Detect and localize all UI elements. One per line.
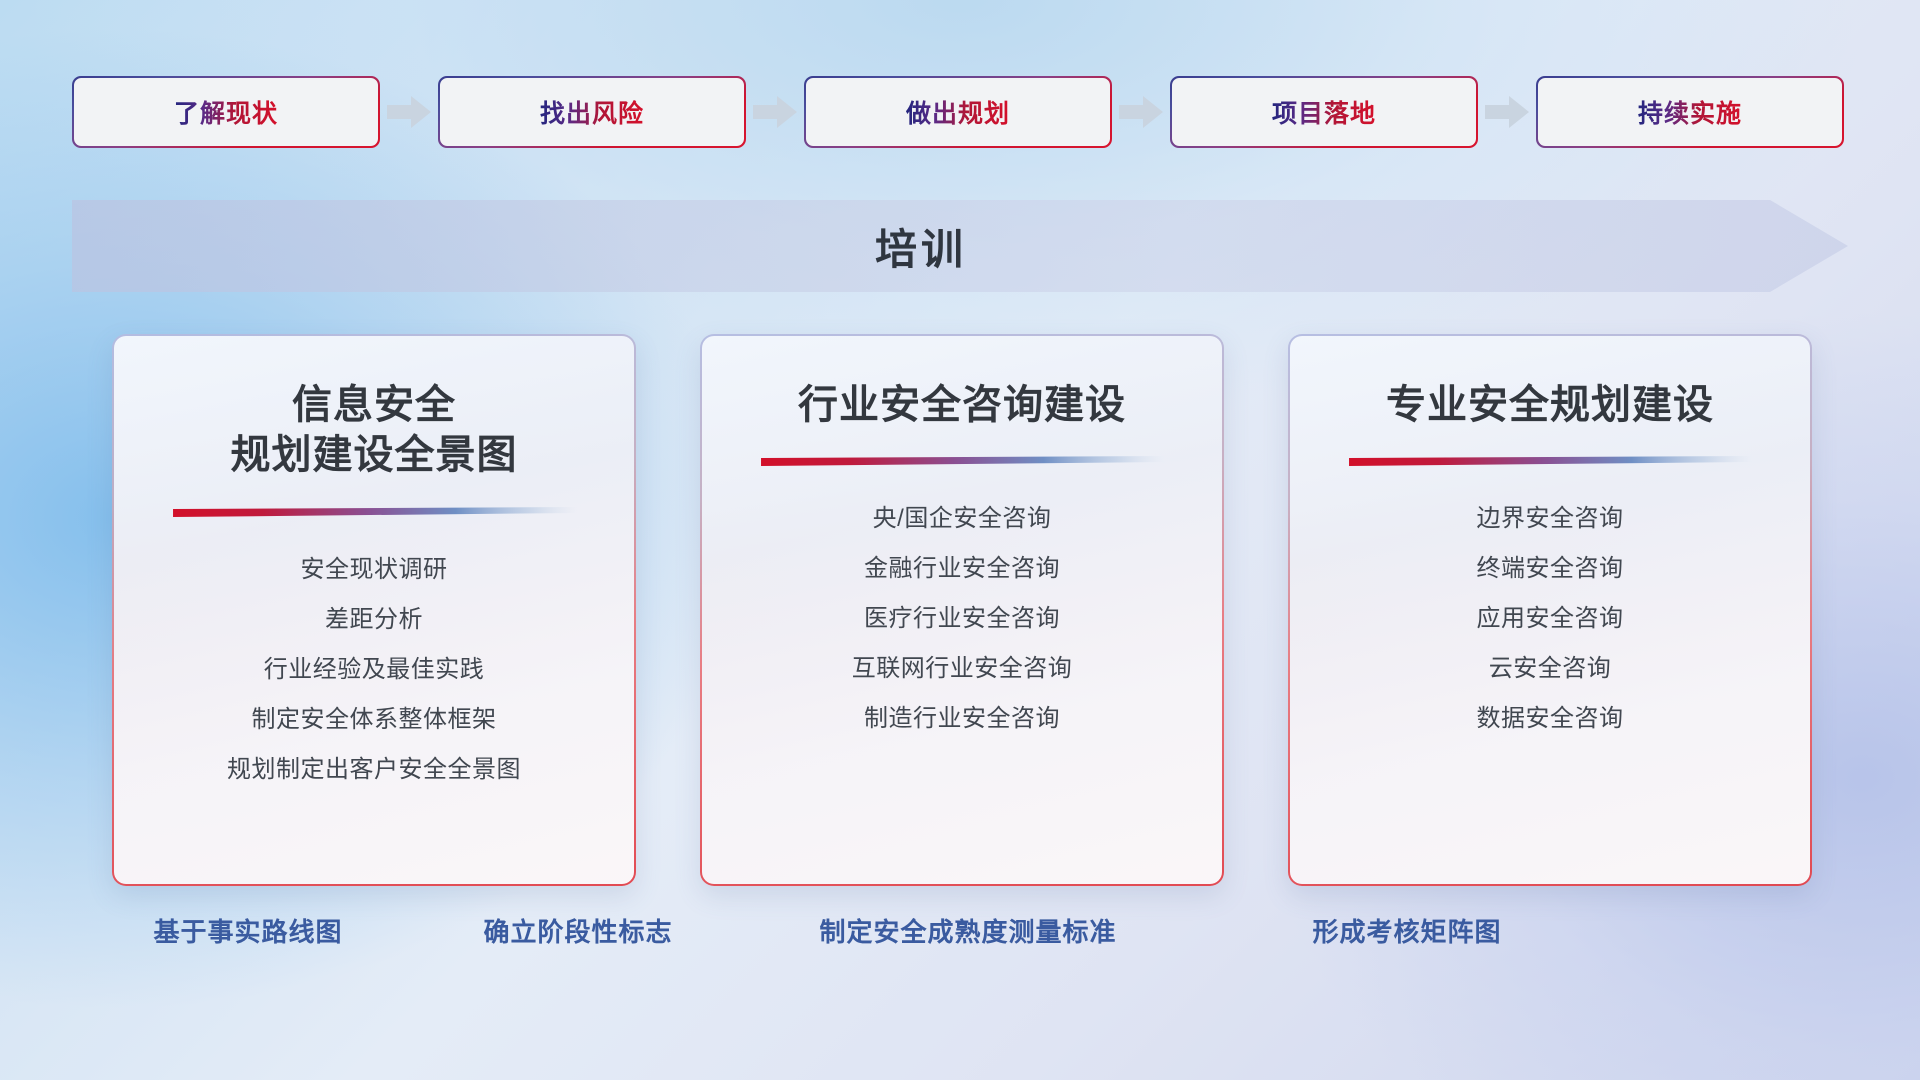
caption-4: 形成考核矩阵图 — [1312, 912, 1501, 949]
service-cards-row: 信息安全 规划建设全景图安全现状调研差距分析行业经验及最佳实践制定安全体系整体框… — [112, 334, 1812, 886]
right-arrow-icon — [1478, 76, 1536, 148]
card-title: 信息安全 规划建设全景图 — [231, 380, 518, 481]
list-item: 终端安全咨询 — [1477, 544, 1624, 594]
card-accent-line — [171, 505, 577, 519]
process-steps-row: 了解现状找出风险做出规划项目落地持续实施 — [72, 76, 1848, 148]
card-title: 专业安全规划建设 — [1386, 380, 1714, 430]
banner-title: 培训 — [72, 200, 1770, 292]
card-item-list: 边界安全咨询终端安全咨询应用安全咨询云安全咨询数据安全咨询 — [1290, 494, 1810, 744]
caption-2: 确立阶段性标志 — [483, 912, 672, 949]
list-item: 应用安全咨询 — [1477, 594, 1624, 644]
service-card-1[interactable]: 信息安全 规划建设全景图安全现状调研差距分析行业经验及最佳实践制定安全体系整体框… — [112, 334, 636, 886]
card-accent-line — [1347, 454, 1753, 468]
list-item: 安全现状调研 — [301, 545, 448, 595]
card-accent-line — [759, 454, 1165, 468]
list-item: 规划制定出客户安全全景图 — [227, 745, 521, 795]
card-item-list: 央/国企安全咨询金融行业安全咨询医疗行业安全咨询互联网行业安全咨询制造行业安全咨… — [702, 494, 1222, 744]
step-box-4[interactable]: 项目落地 — [1170, 76, 1478, 148]
right-arrow-icon — [746, 76, 804, 148]
list-item: 医疗行业安全咨询 — [864, 594, 1060, 644]
list-item: 差距分析 — [325, 595, 423, 645]
card-item-list: 安全现状调研差距分析行业经验及最佳实践制定安全体系整体框架规划制定出客户安全全景… — [114, 545, 634, 795]
right-arrow-icon — [380, 76, 438, 148]
footer-captions: 基于事实路线图确立阶段性标志制定安全成熟度测量标准形成考核矩阵图 — [0, 912, 1920, 972]
list-item: 行业经验及最佳实践 — [264, 645, 485, 695]
step-box-2[interactable]: 找出风险 — [438, 76, 746, 148]
step-label: 了解现状 — [174, 94, 278, 130]
service-card-2[interactable]: 行业安全咨询建设央/国企安全咨询金融行业安全咨询医疗行业安全咨询互联网行业安全咨… — [700, 334, 1224, 886]
list-item: 数据安全咨询 — [1477, 694, 1624, 744]
step-label: 持续实施 — [1638, 94, 1742, 130]
step-label: 项目落地 — [1272, 94, 1376, 130]
step-label: 做出规划 — [906, 94, 1010, 130]
right-arrow-icon — [1112, 76, 1170, 148]
card-inner: 行业安全咨询建设央/国企安全咨询金融行业安全咨询医疗行业安全咨询互联网行业安全咨… — [702, 336, 1222, 884]
card-title: 行业安全咨询建设 — [798, 380, 1126, 430]
step-label: 找出风险 — [540, 94, 644, 130]
caption-3: 制定安全成熟度测量标准 — [819, 912, 1116, 949]
list-item: 云安全咨询 — [1489, 644, 1612, 694]
list-item: 央/国企安全咨询 — [873, 494, 1052, 544]
service-card-3[interactable]: 专业安全规划建设边界安全咨询终端安全咨询应用安全咨询云安全咨询数据安全咨询 — [1288, 334, 1812, 886]
step-box-5[interactable]: 持续实施 — [1536, 76, 1844, 148]
step-box-3[interactable]: 做出规划 — [804, 76, 1112, 148]
card-inner: 专业安全规划建设边界安全咨询终端安全咨询应用安全咨询云安全咨询数据安全咨询 — [1290, 336, 1810, 884]
list-item: 互联网行业安全咨询 — [852, 644, 1073, 694]
caption-1: 基于事实路线图 — [153, 912, 342, 949]
list-item: 边界安全咨询 — [1477, 494, 1624, 544]
list-item: 金融行业安全咨询 — [864, 544, 1060, 594]
list-item: 制定安全体系整体框架 — [252, 695, 497, 745]
step-box-1[interactable]: 了解现状 — [72, 76, 380, 148]
card-inner: 信息安全 规划建设全景图安全现状调研差距分析行业经验及最佳实践制定安全体系整体框… — [114, 336, 634, 884]
list-item: 制造行业安全咨询 — [864, 694, 1060, 744]
training-banner: 培训 — [72, 200, 1848, 292]
